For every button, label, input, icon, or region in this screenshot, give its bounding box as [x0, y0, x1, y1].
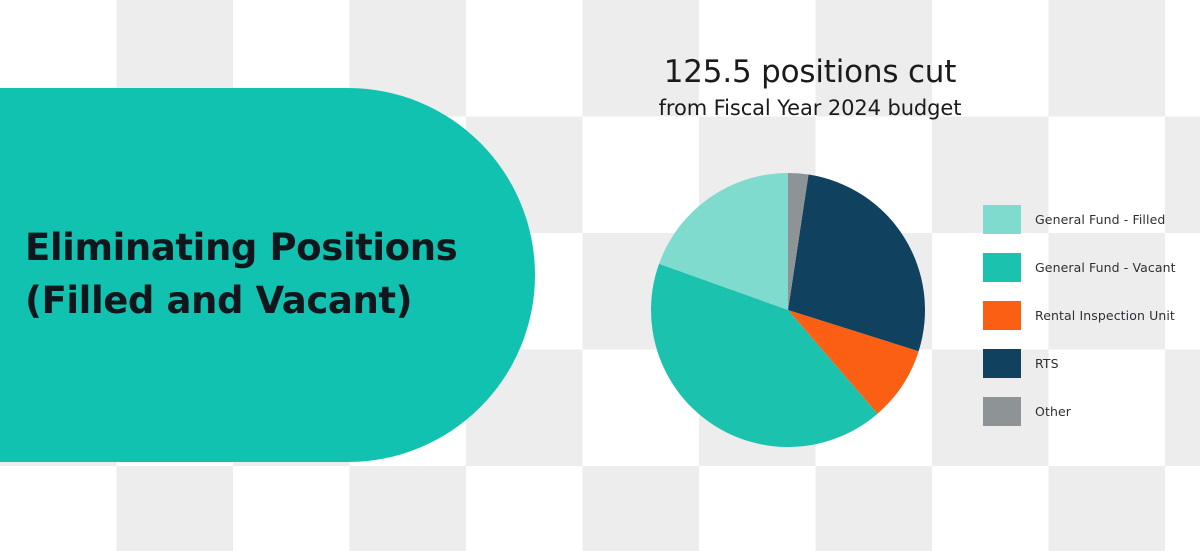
chart-legend: General Fund - FilledGeneral Fund - Vaca… [983, 195, 1198, 435]
legend-label: Rental Inspection Unit [1035, 308, 1175, 323]
legend-label: General Fund - Filled [1035, 212, 1165, 227]
chart-title-block: 125.5 positions cut from Fiscal Year 202… [600, 55, 1020, 122]
pie-chart-svg [651, 173, 925, 447]
chart-title: 125.5 positions cut [600, 55, 1020, 91]
chart-subtitle: from Fiscal Year 2024 budget [600, 95, 1020, 122]
pie-slice-group [651, 173, 925, 447]
legend-swatch [983, 301, 1021, 330]
chart-panel: 125.5 positions cut from Fiscal Year 202… [600, 55, 1200, 495]
legend-swatch [983, 349, 1021, 378]
legend-item: Other [983, 387, 1198, 435]
legend-swatch [983, 253, 1021, 282]
legend-swatch [983, 397, 1021, 426]
legend-item: RTS [983, 339, 1198, 387]
infographic-canvas: Eliminating Positions (Filled and Vacant… [0, 0, 1200, 551]
headline-pill: Eliminating Positions (Filled and Vacant… [0, 88, 535, 462]
pie-chart [651, 173, 925, 447]
headline-text: Eliminating Positions (Filled and Vacant… [25, 222, 457, 327]
legend-label: General Fund - Vacant [1035, 260, 1176, 275]
legend-item: General Fund - Filled [983, 195, 1198, 243]
legend-label: RTS [1035, 356, 1059, 371]
legend-swatch [983, 205, 1021, 234]
legend-label: Other [1035, 404, 1071, 419]
legend-item: General Fund - Vacant [983, 243, 1198, 291]
legend-item: Rental Inspection Unit [983, 291, 1198, 339]
